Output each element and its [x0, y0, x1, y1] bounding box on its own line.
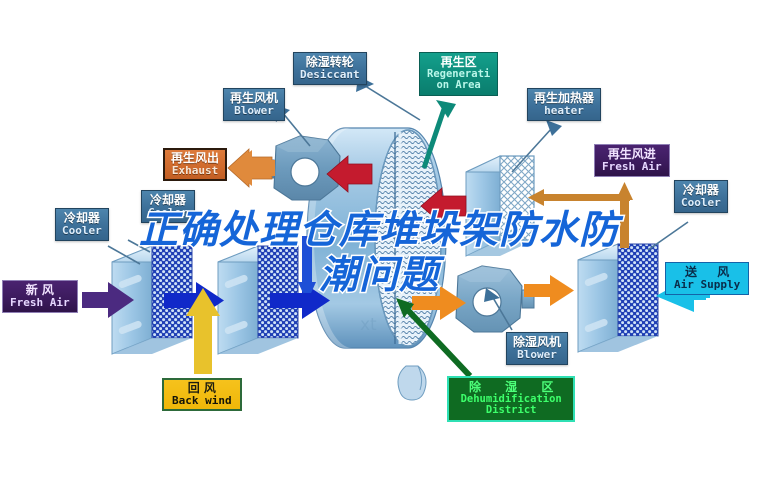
- label-en: Blower: [230, 105, 278, 117]
- label-en-line1: Regenerati: [427, 69, 490, 80]
- label-cn: 再生区: [427, 56, 490, 69]
- label-en-line2: on Area: [427, 80, 490, 91]
- label-en: heater: [534, 105, 594, 117]
- label-en: Fresh Air: [10, 297, 70, 309]
- label-en-line2: District: [459, 405, 563, 416]
- headline-line-1: 正确处理仓库堆垛架防水防: [96, 208, 662, 253]
- label-cn: 除湿转轮: [300, 56, 360, 69]
- label-cn: 再生加热器: [534, 92, 594, 105]
- label-back-wind: 回 风 Back wind: [162, 378, 242, 411]
- label-en: Blower: [513, 349, 561, 361]
- exhaust-arrow: [228, 149, 275, 187]
- headline-line-2: 潮问题: [96, 253, 662, 298]
- label-en: Air Supply: [674, 279, 740, 291]
- label-cn: 新 风: [10, 284, 70, 297]
- label-air-supply: 送 风 Air Supply: [665, 262, 749, 295]
- label-desiccant-wheel: 除湿转轮 Desiccant: [293, 52, 367, 85]
- label-dehumidification-blower: 除湿风机 Blower: [506, 332, 568, 365]
- label-cn: 回 风: [172, 382, 232, 395]
- label-exhaust: 再生风出 Exhaust: [163, 148, 227, 181]
- label-cn: 冷却器: [681, 184, 721, 197]
- label-regeneration-blower: 再生风机 Blower: [223, 88, 285, 121]
- label-en: Desiccant: [300, 69, 360, 81]
- regen-fresh-air-arrow: [528, 189, 630, 206]
- illustration-canvas: xt: [0, 0, 757, 488]
- label-cn: 除湿风机: [513, 336, 561, 349]
- label-en: Fresh Air: [602, 161, 662, 173]
- label-regeneration-area: 再生区 Regenerati on Area: [419, 52, 498, 96]
- label-dehumidification-district: 除 湿 区 Dehumidification District: [447, 376, 575, 422]
- label-cn: 再生风进: [602, 148, 662, 161]
- label-fresh-air-process: 新 风 Fresh Air: [2, 280, 78, 313]
- label-cn: 除 湿 区: [459, 381, 563, 394]
- label-cn: 冷却器: [148, 194, 188, 207]
- watermark-text: xt: [360, 315, 377, 335]
- label-en: Exhaust: [171, 165, 219, 177]
- label-cn: 再生风机: [230, 92, 278, 105]
- label-en-line1: Dehumidification: [459, 394, 563, 405]
- label-cn: 送 风: [674, 266, 740, 279]
- label-en: Back wind: [172, 395, 232, 407]
- label-fresh-air-regeneration: 再生风进 Fresh Air: [594, 144, 670, 177]
- label-en: Cooler: [681, 197, 721, 209]
- label-regeneration-heater: 再生加热器 heater: [527, 88, 601, 121]
- label-cooler-right: 冷却器 Cooler: [674, 180, 728, 213]
- headline-overlay: 正确处理仓库堆垛架防水防 潮问题: [96, 208, 662, 298]
- label-cn: 再生风出: [171, 152, 219, 165]
